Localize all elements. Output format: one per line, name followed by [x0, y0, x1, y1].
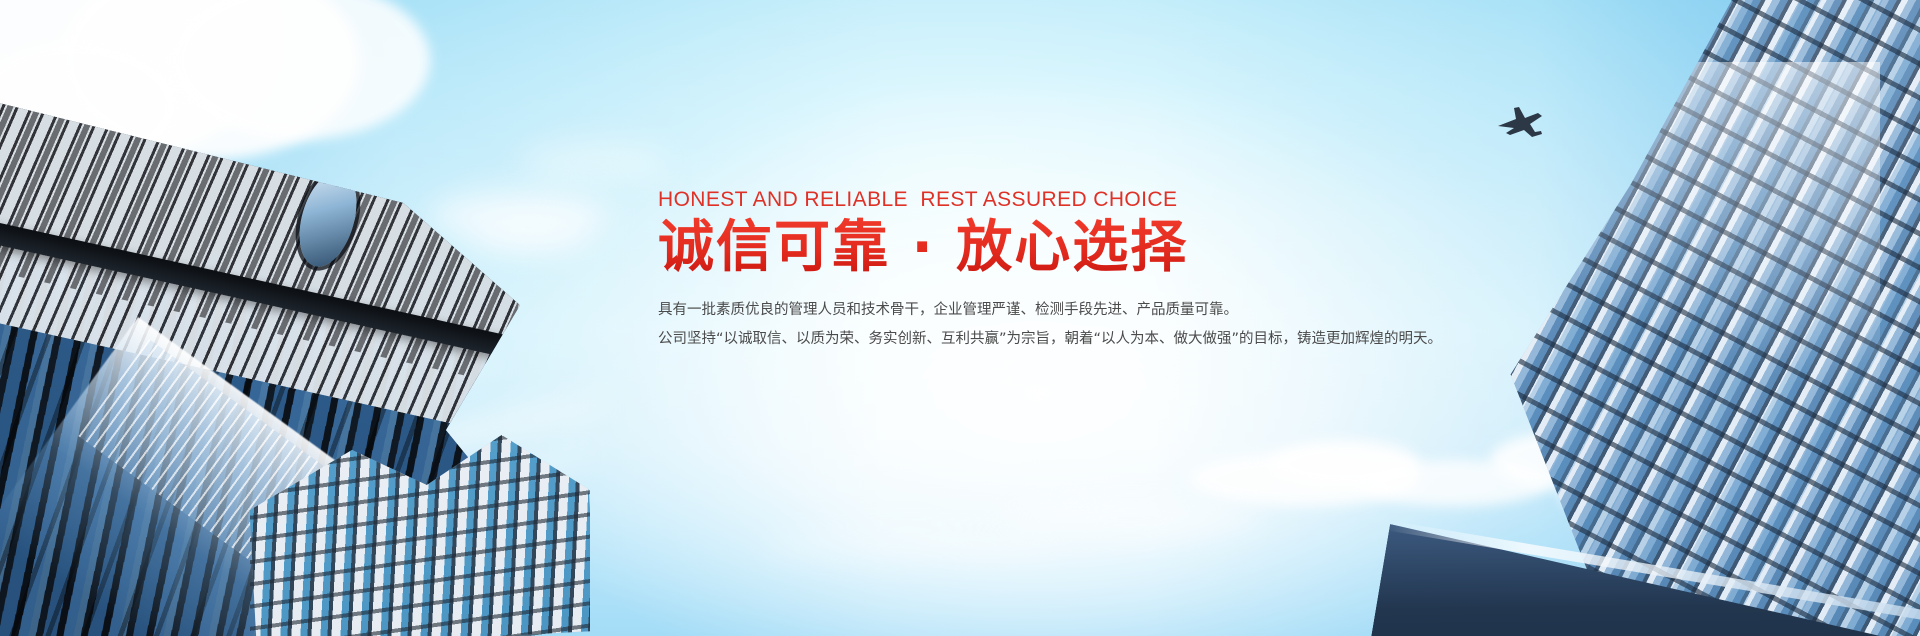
banner-copy: HONEST AND RELIABLE REST ASSURED CHOICE … [658, 188, 1358, 354]
airplane-icon [1494, 102, 1546, 144]
cloud-mid-3 [520, 140, 670, 184]
banner-body: 具有一批素质优良的管理人员和技术骨干，企业管理严谨、检测手段先进、产品质量可靠。… [658, 296, 1358, 354]
banner-eyebrow: HONEST AND RELIABLE REST ASSURED CHOICE [658, 188, 1358, 211]
banner-body-line-1: 具有一批素质优良的管理人员和技术骨干，企业管理严谨、检测手段先进、产品质量可靠。 [658, 296, 1358, 325]
hero-banner: HONEST AND RELIABLE REST ASSURED CHOICE … [0, 0, 1920, 636]
cloud-mid-2 [470, 215, 590, 255]
cloud-bottom-6 [1000, 500, 1260, 536]
banner-body-line-2: 公司坚持“以诚取信、以质为荣、务实创新、互利共赢”为宗旨，朝着“以人为本、做大做… [658, 325, 1358, 354]
cloud-bottom-7 [760, 530, 1060, 560]
banner-headline: 诚信可靠 · 放心选择 [658, 217, 1358, 280]
